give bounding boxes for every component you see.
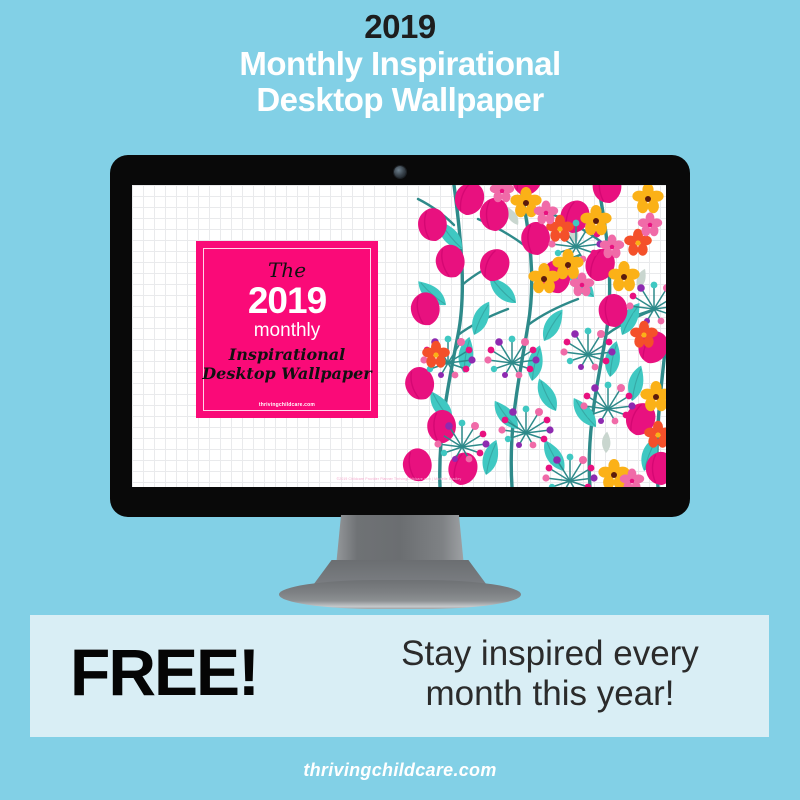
card-monthly-text: monthly	[196, 320, 378, 341]
monitor-mockup: The 2019 monthly Inspirational Desktop W…	[110, 155, 690, 520]
wallpaper-title-card: The 2019 monthly Inspirational Desktop W…	[196, 241, 378, 418]
floral-artwork	[400, 185, 666, 487]
promo-tagline-line-2: month this year!	[350, 673, 750, 715]
card-script-line-1: Inspirational	[196, 345, 378, 364]
webcam-icon	[394, 166, 406, 178]
promo-band: FREE! Stay inspired every month this yea…	[30, 615, 769, 737]
header-year: 2019	[0, 8, 800, 46]
card-the-text: The	[196, 259, 378, 281]
screen-credit-line: ©2019 Childcare Provider Planner Thrivin…	[132, 477, 666, 481]
monitor-screen: The 2019 monthly Inspirational Desktop W…	[132, 185, 666, 487]
header-title-line-2: Desktop Wallpaper	[0, 82, 800, 118]
card-script-line-2: Desktop Wallpaper	[196, 364, 378, 383]
free-label: FREE!	[70, 637, 258, 707]
monitor-stand-base	[279, 580, 521, 609]
footer-site-url: thrivingchildcare.com	[0, 760, 800, 781]
poster-header: 2019 Monthly Inspirational Desktop Wallp…	[0, 0, 800, 118]
card-year-text: 2019	[196, 281, 378, 321]
floral-pattern-svg	[400, 185, 666, 487]
monitor-bezel: The 2019 monthly Inspirational Desktop W…	[110, 155, 690, 517]
poster-canvas: 2019 Monthly Inspirational Desktop Wallp…	[0, 0, 800, 800]
card-url-text: thrivingchildcare.com	[196, 402, 378, 408]
promo-tagline-line-1: Stay inspired every	[350, 633, 750, 675]
header-title-line-1: Monthly Inspirational	[0, 46, 800, 82]
